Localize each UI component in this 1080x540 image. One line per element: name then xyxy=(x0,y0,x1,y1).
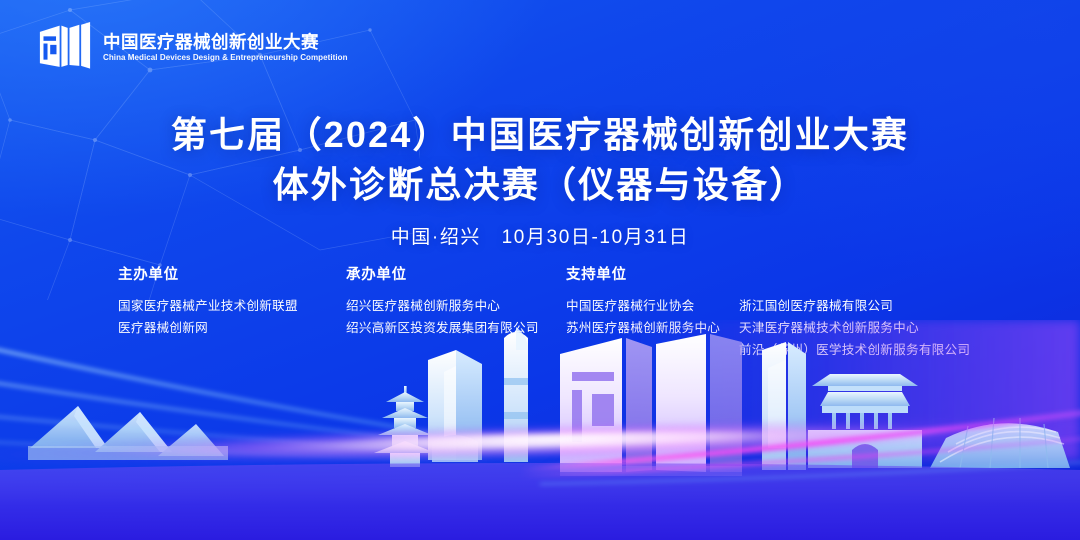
organizer-item: 中国医疗器械行业协会 xyxy=(566,295,739,317)
organizer-item: 绍兴医疗器械创新服务中心 xyxy=(346,295,566,317)
brand-name-cn: 中国医疗器械创新创业大赛 xyxy=(103,34,353,52)
hero-titles: 第七届（2024）中国医疗器械创新创业大赛 体外诊断总决赛（仪器与设备） 中国·… xyxy=(0,110,1080,249)
poster-banner: 中国医疗器械创新创业大赛 China Medical Devices Desig… xyxy=(0,0,1080,540)
hero-title-line-1: 第七届（2024）中国医疗器械创新创业大赛 xyxy=(0,110,1080,160)
hero-subtitle-location-date: 中国·绍兴 10月30日-10月31日 xyxy=(0,222,1080,249)
organizer-heading: 承办单位 xyxy=(346,268,566,283)
brand-logo: 中国医疗器械创新创业大赛 China Medical Devices Desig… xyxy=(38,22,353,74)
organizer-heading: 主办单位 xyxy=(118,268,346,283)
brand-name-en: China Medical Devices Design & Entrepren… xyxy=(103,54,348,62)
hero-title-line-2: 体外诊断总决赛（仪器与设备） xyxy=(0,160,1080,210)
organizer-item: 国家医疗器械产业技术创新联盟 xyxy=(118,295,346,317)
open-book-door-logo-icon xyxy=(38,22,92,74)
city-skyline-scene xyxy=(0,320,1080,540)
organizer-item: 浙江国创医疗器械有限公司 xyxy=(739,295,1007,317)
organizer-heading: 支持单位 xyxy=(566,268,739,283)
